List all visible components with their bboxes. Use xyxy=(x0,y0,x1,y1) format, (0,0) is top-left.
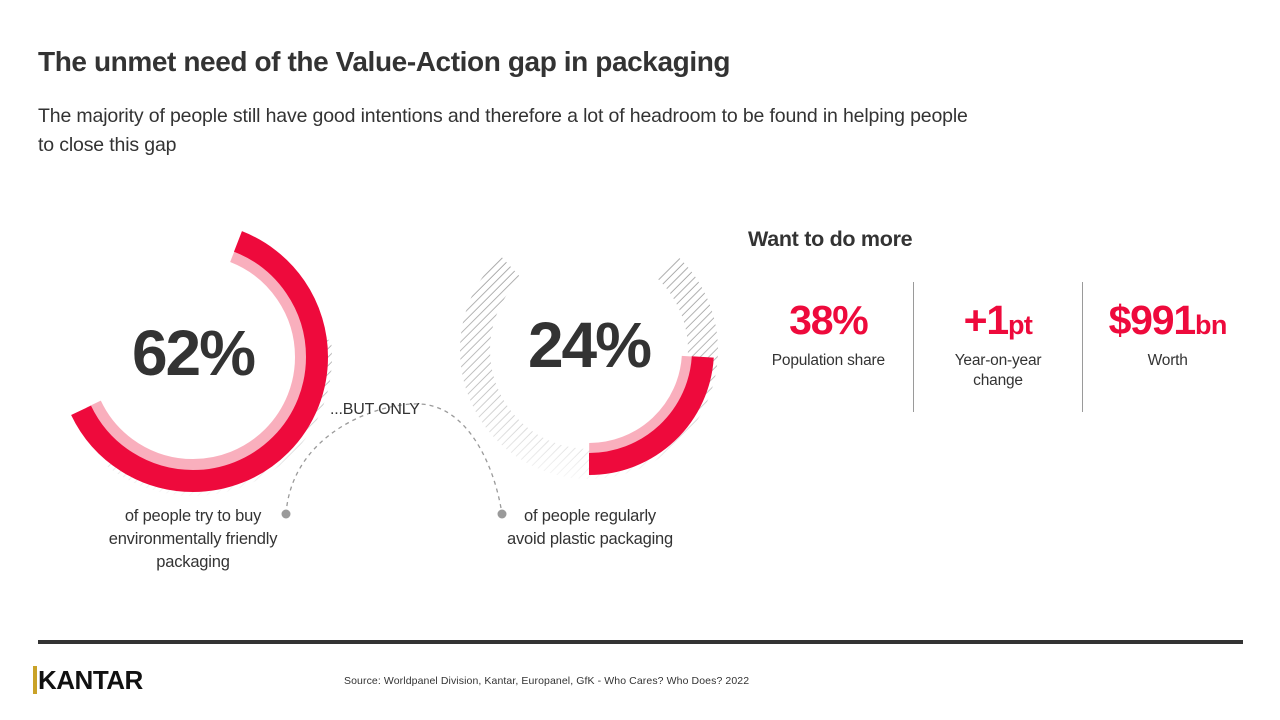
page-subtitle: The majority of people still have good i… xyxy=(38,102,978,160)
stats-row: 38% Population share +1pt Year-on-year c… xyxy=(744,282,1252,412)
stat-worth-unit: bn xyxy=(1195,310,1227,340)
stat-population-share-number: 38% xyxy=(789,297,867,343)
donut-left-value: 62% xyxy=(48,316,338,390)
kantar-logo-text: KANTAR xyxy=(38,666,143,694)
page-title: The unmet need of the Value-Action gap i… xyxy=(38,46,730,78)
stat-population-share-label: Population share xyxy=(748,351,909,371)
stat-population-share: 38% Population share xyxy=(744,282,913,371)
stat-worth: $991bn Worth xyxy=(1083,282,1252,371)
source-note: Source: Worldpanel Division, Kantar, Eur… xyxy=(344,675,749,687)
footer-divider xyxy=(38,640,1243,644)
stat-worth-value: $991bn xyxy=(1087,298,1248,347)
stat-year-on-year-change-label: Year-on-year change xyxy=(918,351,1079,391)
connector-dot-left xyxy=(282,510,291,519)
stat-year-on-year-change-number: +1 xyxy=(964,297,1008,343)
kantar-logo: KANTAR xyxy=(33,666,143,694)
but-only-label: ...BUT ONLY xyxy=(330,401,420,419)
stat-year-on-year-change-value: +1pt xyxy=(918,298,1079,347)
stat-population-share-value: 38% xyxy=(748,298,909,347)
donut-right-value: 24% xyxy=(455,308,723,382)
stats-heading: Want to do more xyxy=(748,227,912,252)
stat-year-on-year-change: +1pt Year-on-year change xyxy=(914,282,1083,391)
stat-worth-label: Worth xyxy=(1087,351,1248,371)
stat-worth-number: $991 xyxy=(1109,297,1195,343)
kantar-logo-bar-icon xyxy=(33,666,37,694)
stat-year-on-year-change-unit: pt xyxy=(1008,310,1032,340)
connector-dot-right xyxy=(498,510,507,519)
